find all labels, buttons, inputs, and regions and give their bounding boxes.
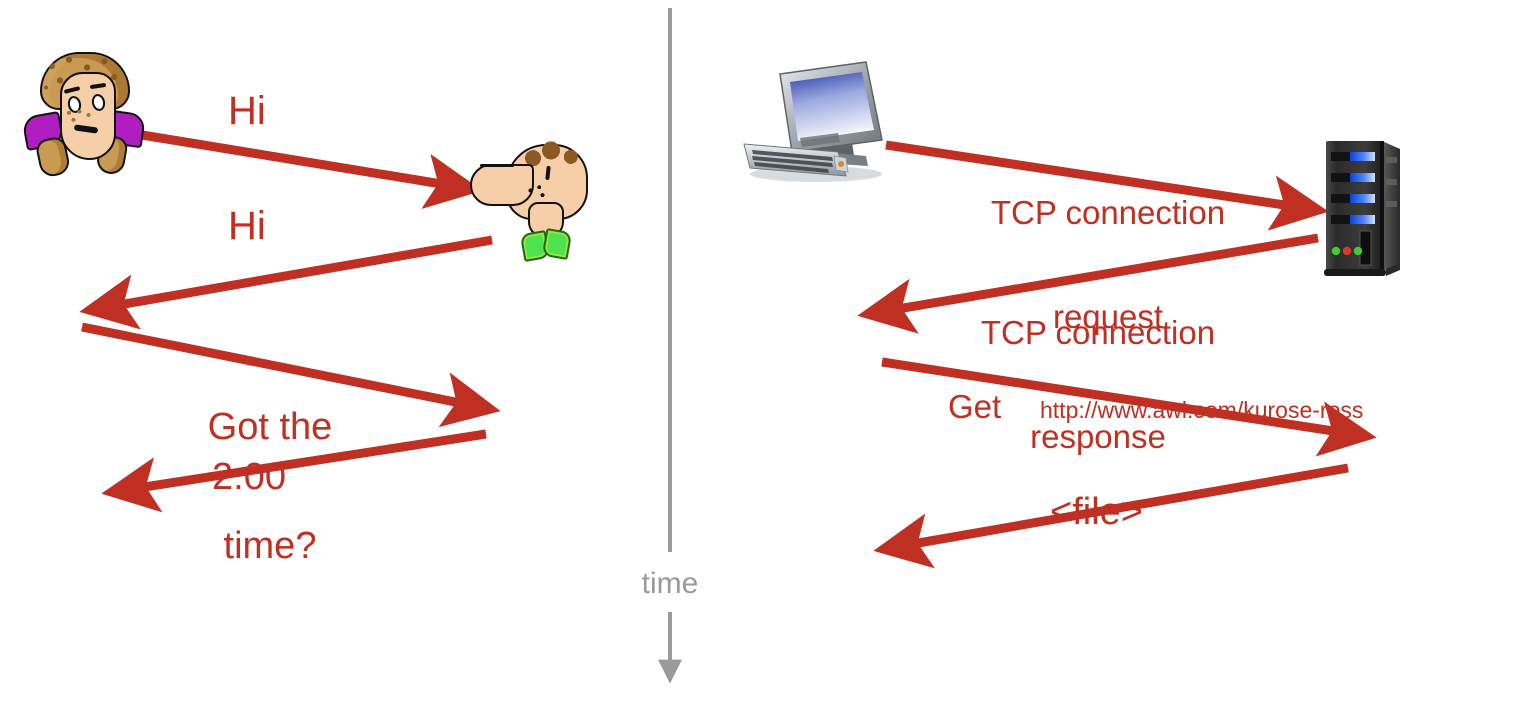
- time-axis-label: time: [612, 567, 728, 601]
- label-tcp-request-line1: TCP connection: [940, 196, 1276, 231]
- diagram-canvas: Hi Hi Got the time? 2:00 TCP connection …: [0, 0, 1526, 704]
- label-hi-2: Hi: [228, 205, 266, 247]
- boy-hair: [524, 140, 584, 166]
- boy-clipart: [470, 140, 596, 264]
- label-http-get-url: http://www.awl.com/kurose-ross: [1040, 398, 1363, 422]
- label-got-the-time-line1: Got the: [185, 408, 355, 448]
- label-file-reply: <file>: [1050, 493, 1143, 533]
- arrow-hi1: [142, 135, 472, 189]
- boy-bowtie-right: [542, 228, 572, 260]
- label-hi-1: Hi: [228, 90, 266, 132]
- label-got-the-time-line2: time?: [185, 527, 355, 567]
- boy-cheek-detail: [526, 184, 548, 200]
- label-http-get-prefix: Get: [948, 390, 1001, 425]
- desktop-computer-icon: [744, 62, 882, 182]
- boy-nose: [470, 164, 534, 206]
- boy-nose-line: [480, 164, 514, 167]
- label-tcp-response-line2: response: [930, 420, 1266, 455]
- girl-freckles: [66, 110, 96, 124]
- label-two-oclock: 2:00: [212, 458, 286, 498]
- label-tcp-response-line1: TCP connection: [930, 316, 1266, 351]
- label-tcp-connection-response: TCP connection response: [930, 247, 1266, 524]
- arrow-hi2: [90, 240, 492, 310]
- girl-clipart: [22, 52, 142, 182]
- server-icon: [1324, 141, 1400, 276]
